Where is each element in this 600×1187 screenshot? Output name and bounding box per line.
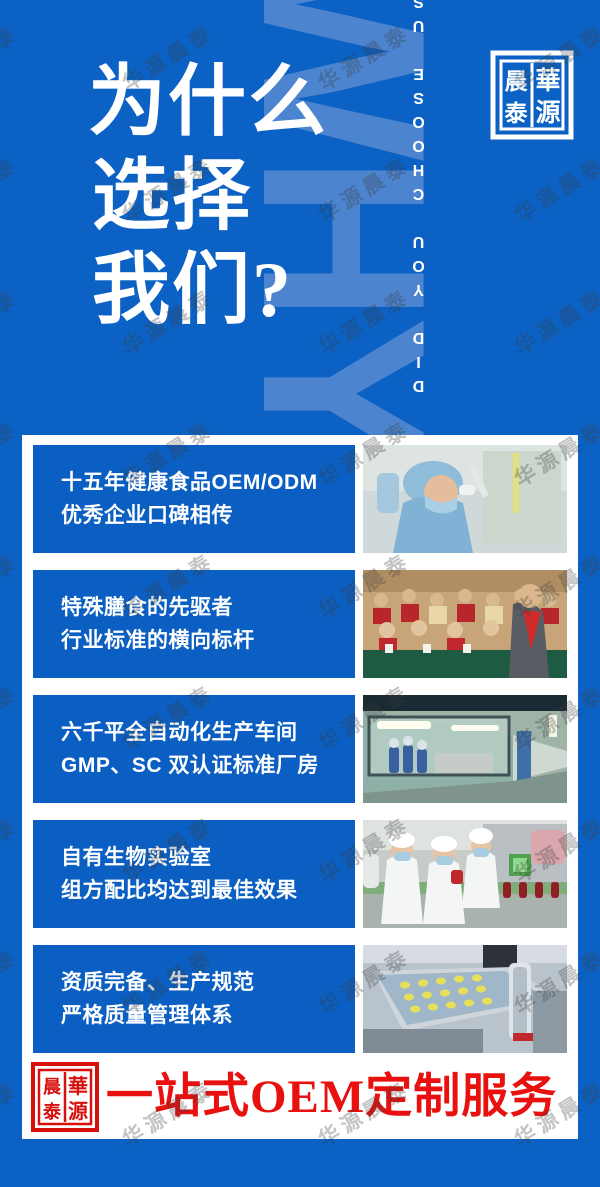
tablet-packaging-machine-photo bbox=[363, 945, 567, 1053]
footer-slogan: 一站式OEM定制服务 bbox=[106, 1069, 557, 1125]
feature-line-1: 自有生物实验室 bbox=[61, 841, 355, 874]
page-title: 为什么 选择 我们? bbox=[88, 55, 388, 337]
hua-yuan-chen-tai-seal-red-icon: 華 源 晨 泰 bbox=[30, 1060, 100, 1134]
svg-text:晨: 晨 bbox=[505, 69, 529, 94]
feature-line-2: GMP、SC 双认证标准厂房 bbox=[61, 749, 355, 782]
svg-text:華: 華 bbox=[535, 67, 560, 95]
list-item[interactable]: 特殊膳食的先驱者 行业标准的横向标杆 bbox=[33, 570, 567, 678]
headline-line-3: 我们? bbox=[88, 243, 388, 337]
list-item[interactable]: 十五年健康食品OEM/ODM 优秀企业口碑相传 bbox=[33, 445, 567, 553]
watermark-text: 华源晨泰 bbox=[0, 809, 24, 890]
watermark-text: 华源晨泰 bbox=[0, 545, 24, 626]
vertical-subtitle: DID YOU CHOOSE US bbox=[404, 22, 434, 394]
svg-text:泰: 泰 bbox=[42, 1101, 62, 1122]
headline-line-2: 选择 bbox=[88, 149, 388, 243]
feature-line-1: 十五年健康食品OEM/ODM bbox=[61, 466, 355, 499]
list-item[interactable]: 自有生物实验室 组方配比均达到最佳效果 bbox=[33, 820, 567, 928]
feature-line-2: 严格质量管理体系 bbox=[61, 999, 355, 1032]
list-item[interactable]: 资质完备、生产规范 严格质量管理体系 bbox=[33, 945, 567, 1053]
feature-line-2: 优秀企业口碑相传 bbox=[61, 499, 355, 532]
headline-line-1: 为什么 bbox=[88, 55, 388, 149]
feature-line-2: 组方配比均达到最佳效果 bbox=[61, 874, 355, 907]
svg-text:華: 華 bbox=[68, 1075, 88, 1098]
feature-line-1: 六千平全自动化生产车间 bbox=[61, 716, 355, 749]
feature-text-block: 自有生物实验室 组方配比均达到最佳效果 bbox=[33, 820, 355, 928]
hua-yuan-chen-tai-seal-icon: 華 源 晨 泰 bbox=[489, 48, 575, 142]
production-line-workers-photo bbox=[363, 820, 567, 928]
feature-line-1: 资质完备、生产规范 bbox=[61, 966, 355, 999]
watermark-text: 华源晨泰 bbox=[0, 941, 24, 1022]
feature-text-block: 十五年健康食品OEM/ODM 优秀企业口碑相传 bbox=[33, 445, 355, 553]
conference-audience-photo bbox=[363, 570, 567, 678]
footer-banner: 華 源 晨 泰 一站式OEM定制服务 bbox=[22, 1055, 578, 1139]
lab-technician-pipette-photo bbox=[363, 445, 567, 553]
poster-header: 为什么 选择 我们? DID YOU CHOOSE US 華 源 晨 泰 bbox=[0, 0, 600, 435]
feature-line-2: 行业标准的横向标杆 bbox=[61, 624, 355, 657]
cleanroom-corridor-photo bbox=[363, 695, 567, 803]
poster-root: WHY 为什么 选择 我们? DID YOU CHOOSE US 華 源 晨 泰… bbox=[0, 0, 600, 1187]
features-list: 十五年健康食品OEM/ODM 优秀企业口碑相传 bbox=[33, 445, 567, 1053]
svg-text:晨: 晨 bbox=[43, 1077, 62, 1097]
watermark-text: 华源晨泰 bbox=[0, 1073, 24, 1154]
svg-text:源: 源 bbox=[68, 1100, 88, 1123]
watermark-text: 华源晨泰 bbox=[0, 677, 24, 758]
feature-text-block: 六千平全自动化生产车间 GMP、SC 双认证标准厂房 bbox=[33, 695, 355, 803]
svg-text:源: 源 bbox=[535, 99, 560, 127]
feature-line-1: 特殊膳食的先驱者 bbox=[61, 591, 355, 624]
feature-text-block: 资质完备、生产规范 严格质量管理体系 bbox=[33, 945, 355, 1053]
list-item[interactable]: 六千平全自动化生产车间 GMP、SC 双认证标准厂房 bbox=[33, 695, 567, 803]
feature-text-block: 特殊膳食的先驱者 行业标准的横向标杆 bbox=[33, 570, 355, 678]
features-panel: 十五年健康食品OEM/ODM 优秀企业口碑相传 bbox=[22, 435, 578, 1139]
svg-text:泰: 泰 bbox=[504, 100, 529, 126]
